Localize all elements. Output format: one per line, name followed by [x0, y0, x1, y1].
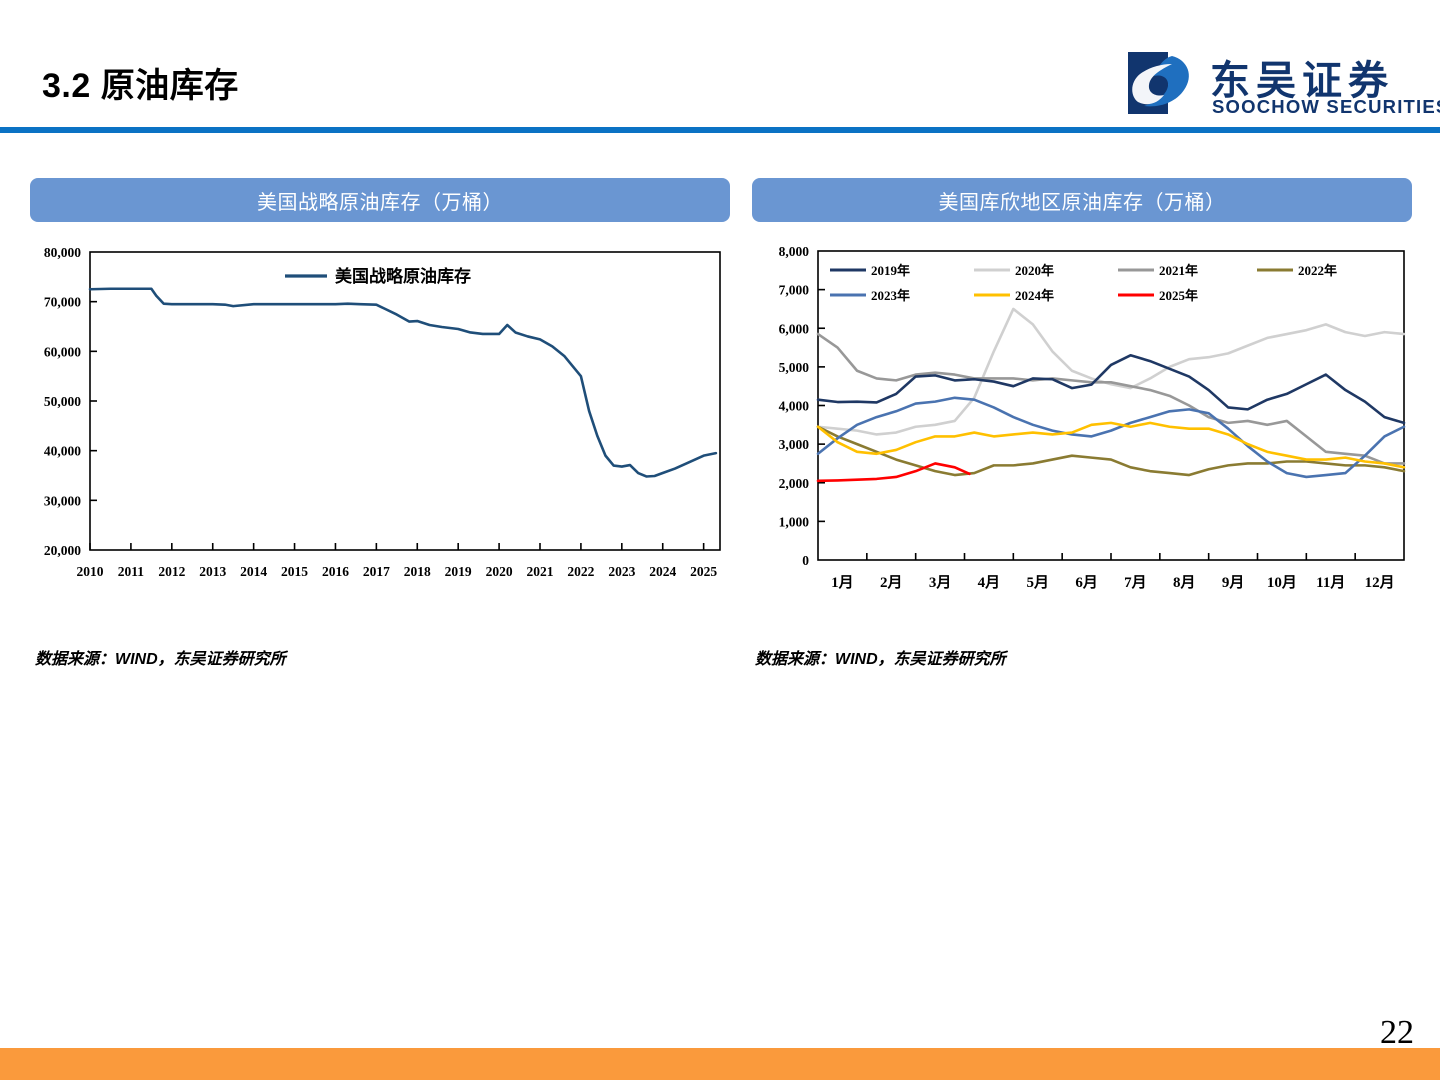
chart-cushing-svg: 01,0002,0003,0004,0005,0006,0007,0008,00…: [752, 240, 1412, 610]
x-tick-label: 6月: [1075, 574, 1098, 591]
panel-right-title: 美国库欣地区原油库存（万桶）: [752, 178, 1412, 222]
x-tick-label: 2013: [199, 564, 226, 579]
page-title: 3.2 原油库存: [42, 58, 239, 107]
panel-cushing-inventory: 美国库欣地区原油库存（万桶） 01,0002,0003,0004,0005,00…: [752, 178, 1412, 610]
legend-label-2022年: 2022年: [1298, 263, 1337, 278]
legend-label-2020年: 2020年: [1015, 263, 1054, 278]
x-tick-label: 1月: [831, 574, 854, 591]
source-note-left: 数据来源：WIND，东吴证券研究所: [35, 645, 286, 669]
y-tick-label: 4,000: [779, 399, 810, 414]
y-tick-label: 0: [802, 553, 809, 568]
x-tick-label: 2023: [608, 564, 635, 579]
page-number: 22: [1380, 1016, 1414, 1050]
plot-frame: [90, 252, 720, 550]
y-tick-label: 60,000: [44, 344, 81, 359]
x-tick-label: 10月: [1267, 574, 1297, 591]
chart-spr-inventory: 20,00030,00040,00050,00060,00070,00080,0…: [30, 240, 730, 610]
x-tick-label: 5月: [1026, 574, 1049, 591]
y-tick-label: 50,000: [44, 394, 81, 409]
x-tick-label: 2月: [880, 574, 903, 591]
source-note-right: 数据来源：WIND，东吴证券研究所: [755, 645, 1006, 669]
series-line-2019年: [818, 355, 1404, 423]
x-tick-label: 2019: [445, 564, 472, 579]
x-tick-label: 2014: [240, 564, 267, 579]
x-tick-label: 2010: [77, 564, 104, 579]
legend-label-美国战略原油库存: 美国战略原油库存: [335, 266, 471, 286]
x-tick-label: 2024: [649, 564, 676, 579]
x-tick-label: 9月: [1222, 574, 1245, 591]
x-tick-label: 3月: [929, 574, 952, 591]
series-line-2023年: [818, 398, 1404, 477]
panel-left-title: 美国战略原油库存（万桶）: [30, 178, 730, 222]
logo-text-en: SOOCHOW SECURITIES: [1212, 96, 1440, 118]
x-tick-label: 2011: [118, 564, 145, 579]
panel-spr-inventory: 美国战略原油库存（万桶） 20,00030,00040,00050,00060,…: [30, 178, 730, 610]
y-tick-label: 40,000: [44, 444, 81, 459]
legend-label-2021年: 2021年: [1159, 263, 1198, 278]
y-tick-label: 1,000: [779, 514, 810, 529]
x-tick-label: 2016: [322, 564, 349, 579]
y-tick-label: 5,000: [779, 360, 810, 375]
y-tick-label: 8,000: [779, 244, 810, 259]
x-tick-label: 11月: [1316, 574, 1345, 591]
company-logo: 东吴证券 SOOCHOW SECURITIES: [1128, 52, 1418, 120]
x-tick-label: 4月: [978, 574, 1001, 591]
y-tick-label: 70,000: [44, 295, 81, 310]
soochow-logo-mark: [1128, 52, 1196, 114]
y-tick-label: 2,000: [779, 476, 810, 491]
x-tick-label: 7月: [1124, 574, 1147, 591]
series-line-2021年: [818, 334, 1404, 463]
x-tick-label: 12月: [1365, 574, 1395, 591]
series-line-2022年: [818, 427, 1404, 475]
y-tick-label: 3,000: [779, 437, 810, 452]
x-tick-label: 2022: [567, 564, 594, 579]
legend-label-2019年: 2019年: [871, 263, 910, 278]
legend-label-2025年: 2025年: [1159, 288, 1198, 303]
legend-label-2024年: 2024年: [1015, 288, 1054, 303]
x-tick-label: 8月: [1173, 574, 1196, 591]
header-divider: [0, 127, 1440, 133]
x-tick-label: 2012: [158, 564, 185, 579]
y-tick-label: 20,000: [44, 543, 81, 558]
y-tick-label: 6,000: [779, 321, 810, 336]
x-tick-label: 2017: [363, 564, 390, 579]
x-tick-label: 2020: [486, 564, 513, 579]
x-tick-label: 2018: [404, 564, 431, 579]
chart-cushing-inventory: 01,0002,0003,0004,0005,0006,0007,0008,00…: [752, 240, 1412, 610]
legend-label-2023年: 2023年: [871, 288, 910, 303]
chart-spr-svg: 20,00030,00040,00050,00060,00070,00080,0…: [30, 240, 730, 610]
x-tick-label: 2021: [527, 564, 554, 579]
series-line-2020年: [818, 309, 1404, 435]
x-tick-label: 2015: [281, 564, 308, 579]
page-header: 3.2 原油库存 东吴证券 SOOCHOW SECURITIES: [0, 0, 1440, 130]
series-line-美国战略原油库存: [90, 289, 716, 477]
x-tick-label: 2025: [690, 564, 717, 579]
y-tick-label: 80,000: [44, 245, 81, 260]
y-tick-label: 30,000: [44, 493, 81, 508]
footer-bar: [0, 1048, 1440, 1080]
y-tick-label: 7,000: [779, 283, 810, 298]
